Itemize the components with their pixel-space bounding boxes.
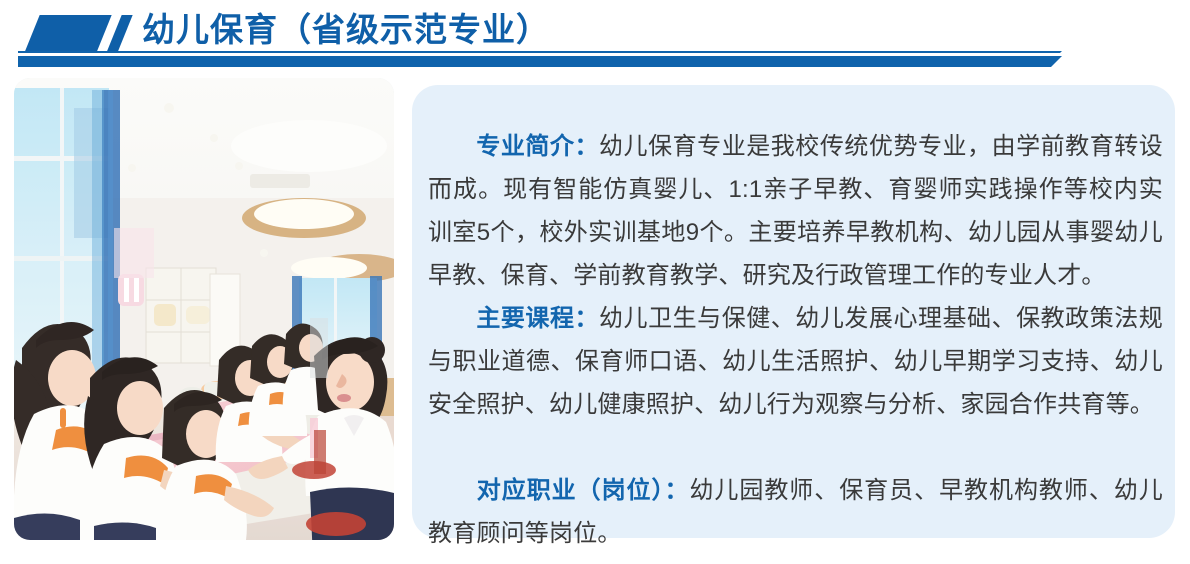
header-rule — [18, 56, 1062, 67]
introduction-label: 专业简介： — [476, 133, 599, 160]
section-career-positions: 对应职业（岗位）：幼儿园教师、保育员、早教机构教师、幼儿教育顾问等岗位。 — [428, 469, 1163, 555]
section-main-courses: 主要课程：幼儿卫生与保健、幼儿发展心理基础、保教政策法规与职业道德、保育师口语、… — [428, 297, 1163, 426]
parallelogram-slash-logo-icon — [22, 15, 137, 53]
page-header: 幼儿保育（省级示范专业） — [0, 0, 1190, 70]
section-introduction: 专业简介：幼儿保育专业是我校传统优势专业，由学前教育转设而成。现有智能仿真婴儿、… — [428, 125, 1163, 297]
program-photo — [14, 78, 394, 540]
logo-slash-shape — [106, 15, 132, 53]
main-courses-label: 主要课程： — [476, 305, 599, 332]
logo-parallelogram-shape — [24, 15, 111, 53]
header-rule-thin — [18, 51, 1062, 53]
program-info-panel: 专业简介：幼儿保育专业是我校传统优势专业，由学前教育转设而成。现有智能仿真婴儿、… — [412, 85, 1175, 538]
page-title: 幼儿保育（省级示范专业） — [142, 9, 550, 51]
career-positions-label: 对应职业（岗位）： — [476, 477, 689, 504]
classroom-illustration — [14, 78, 394, 540]
